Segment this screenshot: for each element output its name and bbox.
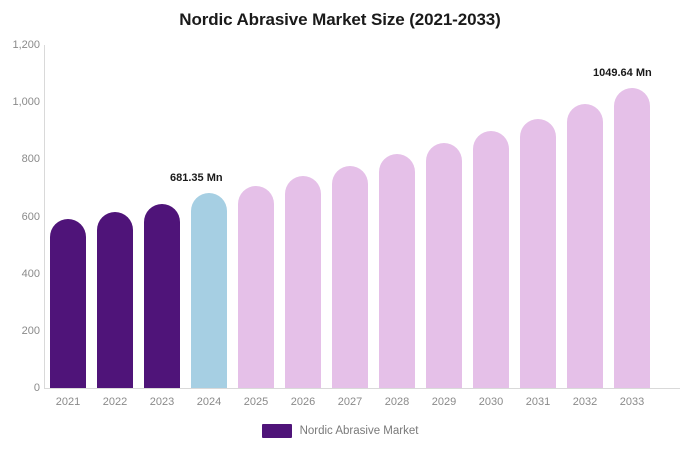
bar[interactable]: [332, 166, 368, 388]
bar[interactable]: [379, 154, 415, 388]
chart-legend: Nordic Abrasive Market: [0, 424, 680, 438]
bar-data-label: 681.35 Mn: [170, 172, 223, 184]
y-axis: 02004006008001,0001,200: [0, 0, 40, 450]
bar[interactable]: [144, 204, 180, 388]
y-axis-tick-label: 200: [2, 325, 40, 337]
y-axis-tick-label: 1,200: [2, 39, 40, 51]
bar[interactable]: [191, 193, 227, 388]
chart-title: Nordic Abrasive Market Size (2021-2033): [0, 10, 680, 30]
legend-label: Nordic Abrasive Market: [300, 425, 419, 437]
y-axis-tick-label: 1,000: [2, 96, 40, 108]
bar[interactable]: [238, 186, 274, 388]
bar[interactable]: [97, 212, 133, 388]
bar[interactable]: [473, 131, 509, 388]
bar-data-label: 1049.64 Mn: [593, 67, 652, 79]
chart-container: Nordic Abrasive Market Size (2021-2033) …: [0, 0, 680, 450]
bar[interactable]: [285, 176, 321, 388]
y-axis-tick-label: 800: [2, 153, 40, 165]
legend-swatch: [262, 424, 292, 438]
x-axis-line: [44, 388, 680, 389]
bar[interactable]: [614, 88, 650, 388]
y-axis-tick-label: 0: [2, 382, 40, 394]
y-axis-tick-label: 400: [2, 268, 40, 280]
bar[interactable]: [567, 104, 603, 388]
bar[interactable]: [50, 219, 86, 388]
bar[interactable]: [520, 119, 556, 388]
x-axis-tick-label: 2033: [602, 396, 662, 408]
bar[interactable]: [426, 143, 462, 388]
y-axis-tick-label: 600: [2, 211, 40, 223]
